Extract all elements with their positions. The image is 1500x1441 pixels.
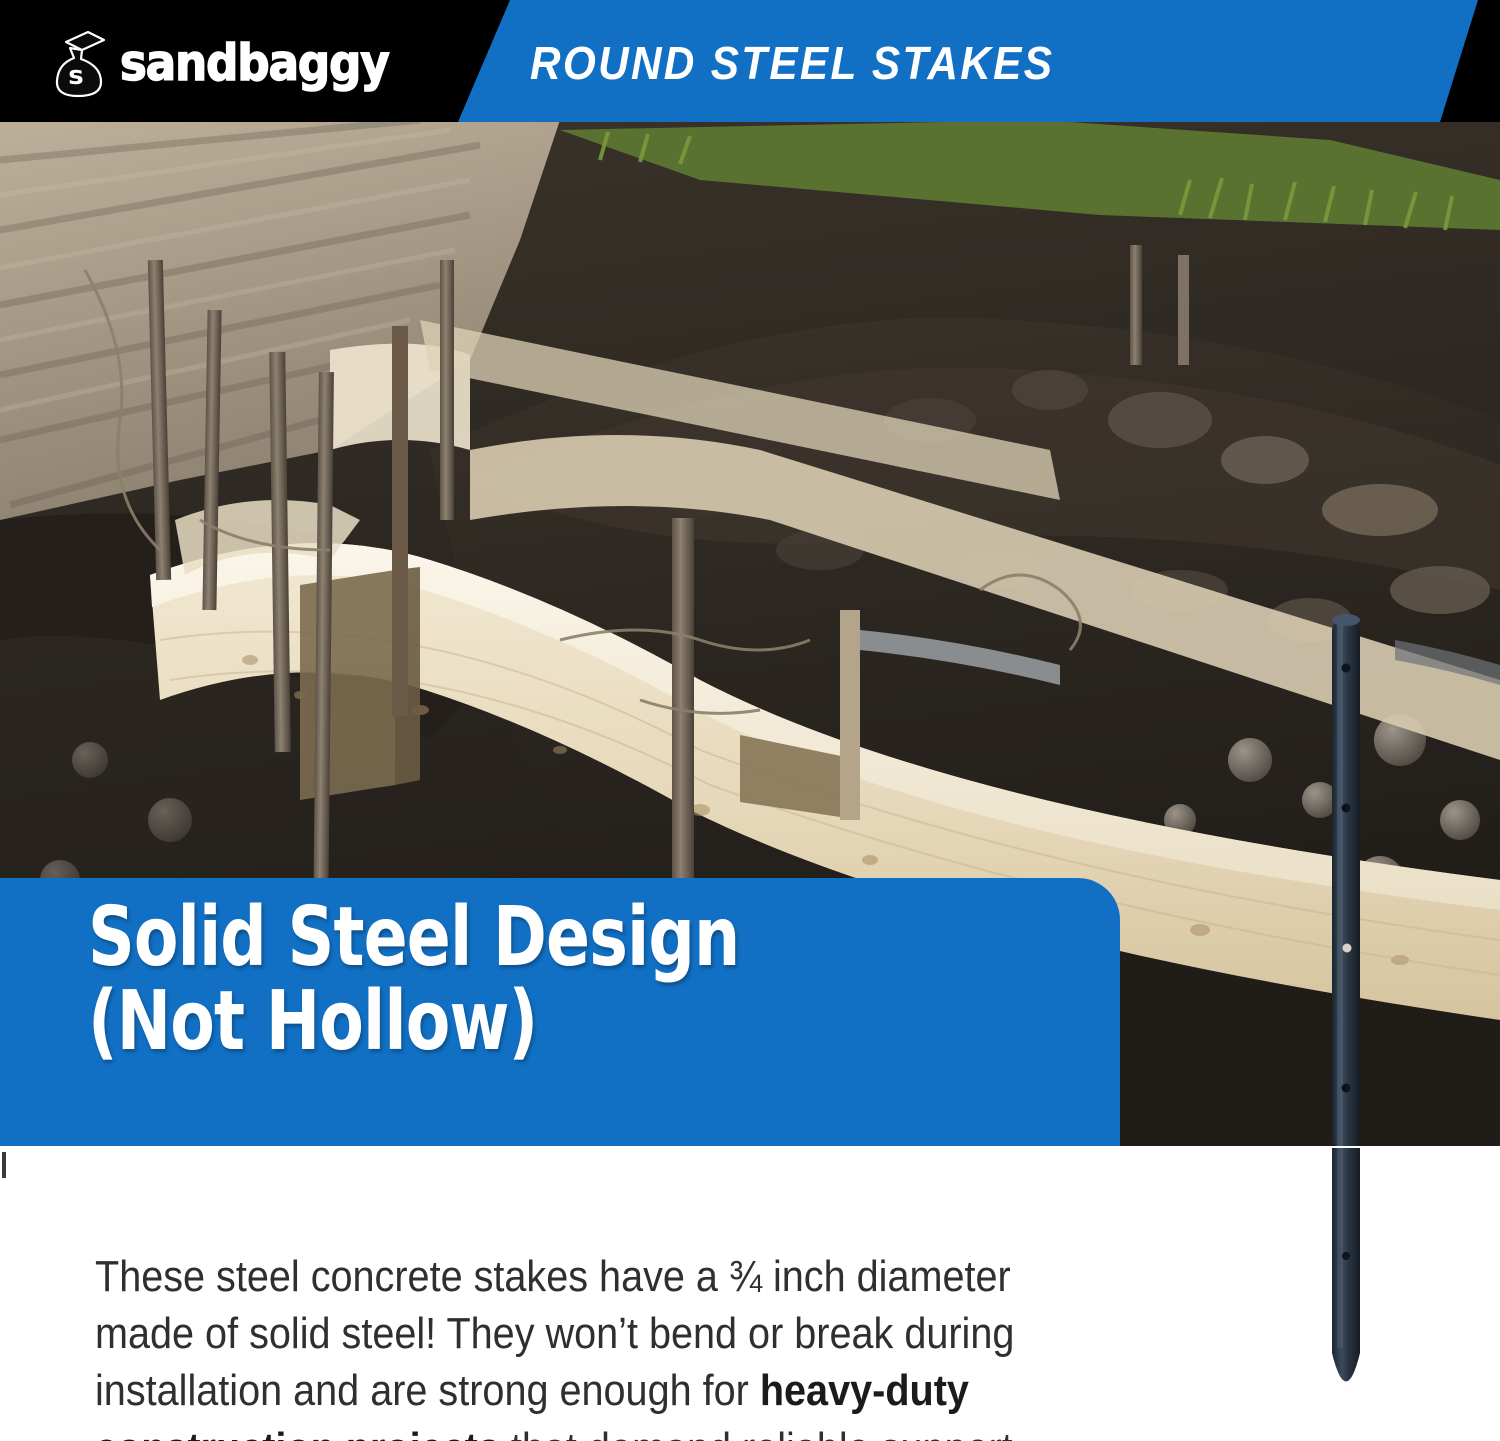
round-steel-stake-tip (1332, 1148, 1360, 1406)
brand-wordmark: sandbaggy (120, 38, 389, 88)
header-title: ROUND STEEL STAKES (530, 36, 1054, 90)
header-bar: s sandbaggy ROUND STEEL STAKES (0, 0, 1500, 122)
headline-text: Solid Steel Design (Not Hollow) (88, 896, 739, 1065)
description-paragraph: These steel concrete stakes have a ¾ inc… (95, 1248, 1094, 1441)
description-part-2: that demand reliable support. (500, 1424, 1024, 1441)
infographic-page: s sandbaggy ROUND STEEL STAKES (0, 0, 1500, 1441)
description-section: These steel concrete stakes have a ¾ inc… (0, 1146, 1500, 1441)
headline-line-2: (Not Hollow) (88, 980, 739, 1064)
brand-logo[interactable]: s sandbaggy (48, 26, 389, 100)
round-steel-stake-hero (1332, 614, 1360, 1150)
sandbag-icon: s (48, 26, 110, 100)
left-edge-marker (2, 1152, 6, 1178)
svg-text:s: s (68, 61, 83, 91)
headline-panel: Solid Steel Design (Not Hollow) (0, 878, 1120, 1146)
headline-line-1: Solid Steel Design (88, 890, 739, 985)
